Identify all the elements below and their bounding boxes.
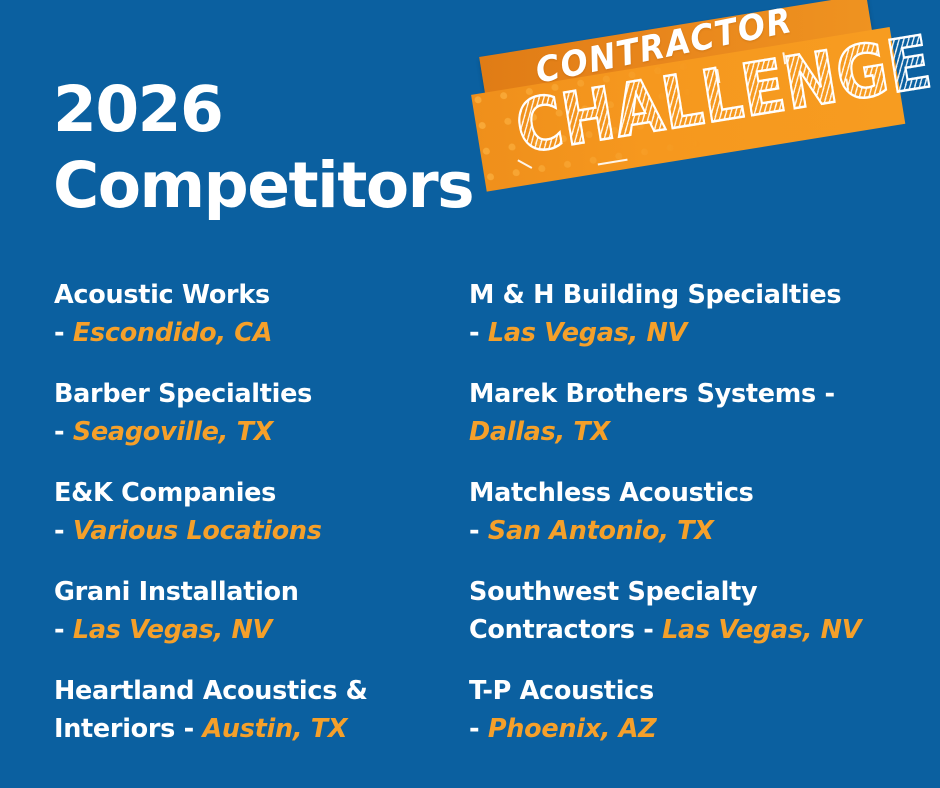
competitor-location: Dallas, TX [469, 417, 610, 447]
competitor-text: Southwest Specialty Contractors - Las Ve… [469, 573, 929, 649]
competitor-entry: Southwest Specialty Contractors - Las Ve… [469, 573, 929, 649]
competitor-location: San Antonio, TX [488, 516, 714, 546]
competitor-entry: Marek Brothers Systems - Dallas, TX [469, 375, 929, 451]
competitor-name: Barber Specialties [54, 379, 312, 409]
competitor-text: Acoustic Works- Escondido, CA [54, 276, 454, 352]
competitors-column-left: Acoustic Works- Escondido, CABarber Spec… [54, 276, 454, 771]
competitor-location: Austin, TX [202, 714, 347, 744]
competitor-name: Marek Brothers Systems [469, 379, 816, 409]
competitor-separator: - [54, 318, 73, 348]
competitor-text: Matchless Acoustics- San Antonio, TX [469, 474, 929, 550]
competitor-name: Acoustic Works [54, 280, 270, 310]
competitor-entry: Heartland Acoustics & Interiors - Austin… [54, 672, 454, 748]
page-title-year: 2026 [53, 72, 523, 148]
competitor-entry: Barber Specialties- Seagoville, TX [54, 375, 454, 451]
competitor-text: M & H Building Specialties- Las Vegas, N… [469, 276, 929, 352]
competitor-entry: Matchless Acoustics- San Antonio, TX [469, 474, 929, 550]
competitor-separator: - [469, 516, 488, 546]
competitor-text: Marek Brothers Systems - Dallas, TX [469, 375, 929, 451]
competitor-location: Various Locations [73, 516, 322, 546]
competitor-name: T-P Acoustics [469, 676, 654, 706]
competitor-separator: - [54, 615, 73, 645]
competitor-separator: - [816, 379, 835, 409]
competitor-location: Escondido, CA [73, 318, 272, 348]
competitor-entry: E&K Companies- Various Locations [54, 474, 454, 550]
competitor-location: Phoenix, AZ [488, 714, 657, 744]
competitors-column-right: M & H Building Specialties- Las Vegas, N… [469, 276, 929, 771]
competitor-name: M & H Building Specialties [469, 280, 841, 310]
page-title-word: Competitors [53, 148, 523, 224]
competitor-location: Las Vegas, NV [73, 615, 272, 645]
competitors-poster: 2026 Competitors CONTRACTOR CHALLENGE Ac… [0, 0, 940, 788]
competitor-location: Las Vegas, NV [662, 615, 861, 645]
competitor-entry: Acoustic Works- Escondido, CA [54, 276, 454, 352]
competitor-separator: - [635, 615, 662, 645]
competitor-text: T-P Acoustics- Phoenix, AZ [469, 672, 929, 748]
contractor-challenge-logo: CONTRACTOR CHALLENGE [470, 8, 910, 208]
page-title: 2026 Competitors [53, 72, 523, 224]
competitor-separator: - [469, 714, 488, 744]
competitor-text: Heartland Acoustics & Interiors - Austin… [54, 672, 454, 748]
competitor-location: Seagoville, TX [73, 417, 273, 447]
competitor-location: Las Vegas, NV [488, 318, 687, 348]
competitor-text: Grani Installation- Las Vegas, NV [54, 573, 454, 649]
competitor-text: Barber Specialties- Seagoville, TX [54, 375, 454, 451]
competitor-entry: T-P Acoustics- Phoenix, AZ [469, 672, 929, 748]
competitor-text: E&K Companies- Various Locations [54, 474, 454, 550]
competitor-entry: M & H Building Specialties- Las Vegas, N… [469, 276, 929, 352]
competitor-separator: - [175, 714, 202, 744]
competitor-name: E&K Companies [54, 478, 276, 508]
competitor-name: Grani Installation [54, 577, 299, 607]
competitor-separator: - [54, 516, 73, 546]
competitors-list: Acoustic Works- Escondido, CABarber Spec… [0, 276, 940, 788]
competitor-entry: Grani Installation- Las Vegas, NV [54, 573, 454, 649]
competitor-separator: - [469, 318, 488, 348]
logo-rotor: CONTRACTOR CHALLENGE [457, 0, 923, 242]
competitor-separator: - [54, 417, 73, 447]
competitor-name: Matchless Acoustics [469, 478, 754, 508]
